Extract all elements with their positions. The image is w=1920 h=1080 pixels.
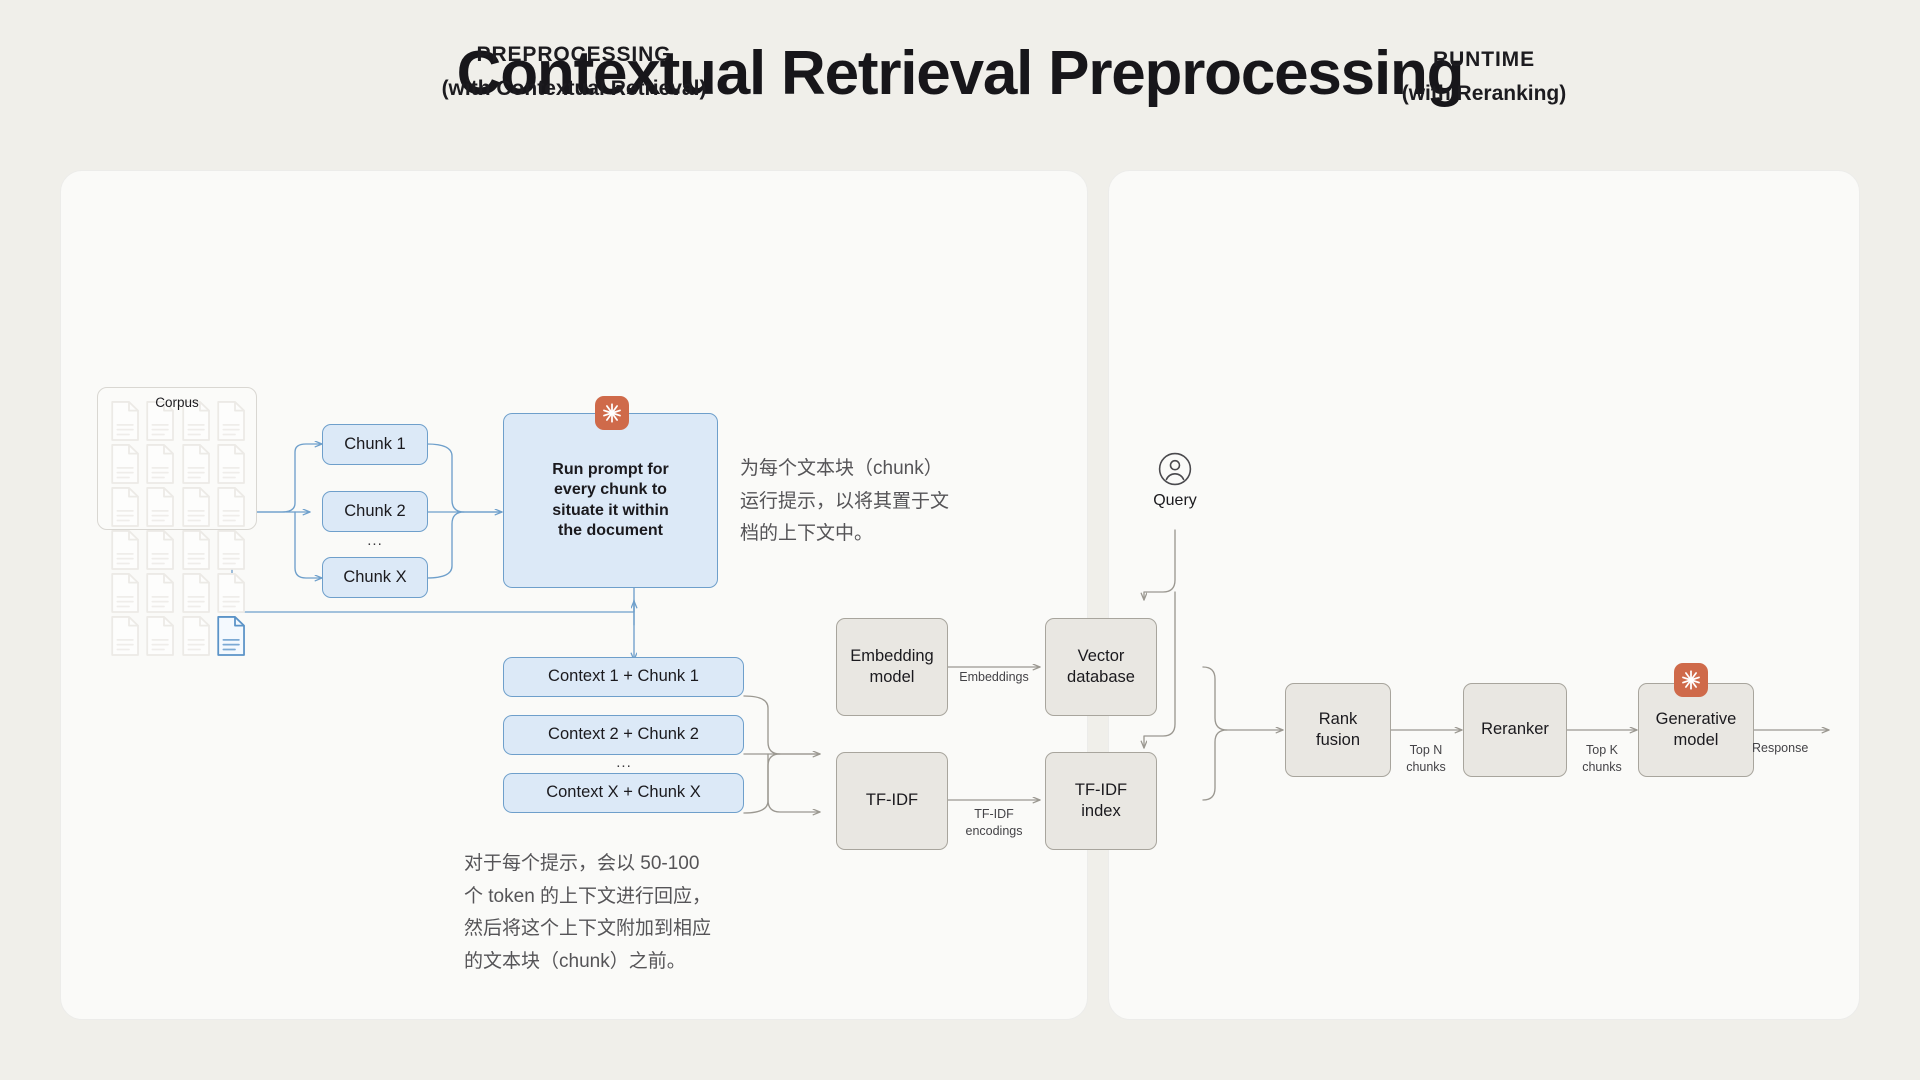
- preprocessing-heading-sub: (with Contextual Retrieval): [60, 72, 1088, 106]
- chunks-ellipsis: ...: [355, 532, 395, 549]
- corpus-document-icon: [144, 443, 176, 485]
- claude-starburst-icon: [595, 396, 629, 430]
- corpus-document-icon: [109, 529, 141, 571]
- tfidf-index-node[interactable]: TF-IDF index: [1045, 752, 1157, 850]
- corpus-document-icon: [144, 529, 176, 571]
- corpus-document-icon: [180, 615, 212, 657]
- corpus-document-icon: [215, 443, 247, 485]
- runtime-heading-main: RUNTIME: [1108, 43, 1860, 77]
- context-chunk-x-node[interactable]: Context X + Chunk X: [503, 773, 744, 813]
- corpus-document-icon: [180, 443, 212, 485]
- query-label: Query: [1128, 492, 1222, 510]
- runtime-heading-sub: (with Reranking): [1108, 77, 1860, 111]
- corpus-document-grid: [109, 400, 247, 524]
- run-prompt-node[interactable]: Run prompt for every chunk to situate it…: [503, 413, 718, 588]
- corpus-document-icon: [215, 486, 247, 528]
- corpus-document-icon: [215, 572, 247, 614]
- embedding-model-node[interactable]: Embedding model: [836, 618, 948, 716]
- corpus-label: Corpus: [98, 395, 256, 410]
- chunk-2-node[interactable]: Chunk 2: [322, 491, 428, 532]
- corpus-document-highlighted-icon: [215, 615, 247, 657]
- chunk-1-node[interactable]: Chunk 1: [322, 424, 428, 465]
- edge-label-embeddings: Embeddings: [948, 669, 1040, 686]
- tfidf-node[interactable]: TF-IDF: [836, 752, 948, 850]
- runtime-panel-heading: RUNTIME (with Reranking): [1108, 43, 1860, 111]
- corpus-document-icon: [180, 572, 212, 614]
- generative-model-node[interactable]: Generative model: [1638, 683, 1754, 777]
- runtime-panel: [1108, 170, 1860, 1020]
- corpus-document-icon: [109, 572, 141, 614]
- corpus-document-icon: [215, 529, 247, 571]
- rank-fusion-node[interactable]: Rank fusion: [1285, 683, 1391, 777]
- preprocessing-panel-heading: PREPROCESSING (with Contextual Retrieval…: [60, 38, 1088, 106]
- context-chunks-ellipsis: ...: [604, 754, 644, 771]
- preprocessing-heading-main: PREPROCESSING: [60, 38, 1088, 72]
- diagram-canvas: Contextual Retrieval Preprocessing PREPR…: [0, 0, 1920, 1080]
- context-chunk-1-node[interactable]: Context 1 + Chunk 1: [503, 657, 744, 697]
- vector-database-node[interactable]: Vector database: [1045, 618, 1157, 716]
- corpus-document-icon: [144, 486, 176, 528]
- context-chunk-2-node[interactable]: Context 2 + Chunk 2: [503, 715, 744, 755]
- edge-label-top-k-chunks: Top K chunks: [1556, 742, 1648, 775]
- corpus-document-icon: [109, 615, 141, 657]
- corpus-document-icon: [109, 443, 141, 485]
- claude-starburst-icon: [1674, 663, 1708, 697]
- corpus-document-icon: [180, 529, 212, 571]
- corpus-document-icon: [144, 615, 176, 657]
- corpus-document-icon: [180, 486, 212, 528]
- edge-label-tfidf-encodings: TF-IDF encodings: [948, 806, 1040, 839]
- corpus-document-icon: [144, 572, 176, 614]
- user-avatar-icon: [1158, 452, 1192, 486]
- corpus-box: Corpus: [97, 387, 257, 530]
- edge-label-top-n-chunks: Top N chunks: [1380, 742, 1472, 775]
- preprocessing-note-bottom: 对于每个提示，会以 50-100 个 token 的上下文进行回应， 然后将这个…: [464, 848, 774, 979]
- reranker-node[interactable]: Reranker: [1463, 683, 1567, 777]
- preprocessing-note-top: 为每个文本块（chunk） 运行提示，以将其置于文 档的上下文中。: [740, 453, 1010, 551]
- edge-label-response: Response: [1752, 740, 1852, 757]
- corpus-document-icon: [109, 486, 141, 528]
- chunk-x-node[interactable]: Chunk X: [322, 557, 428, 598]
